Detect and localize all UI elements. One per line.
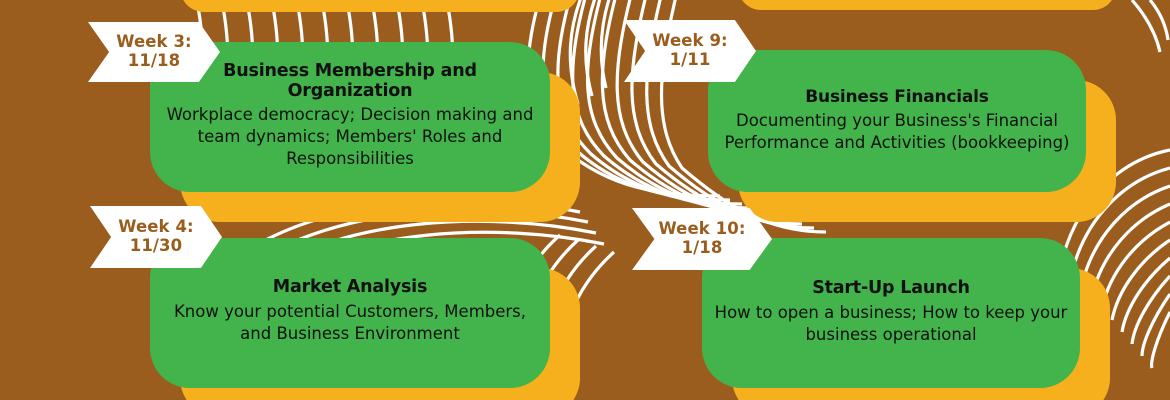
deco-top-right-arcs xyxy=(1132,0,1168,52)
ribbon-date-label: 11/18 xyxy=(128,52,180,71)
ribbon-date-label: 11/30 xyxy=(130,237,182,256)
ribbon-week-label: Week 9: xyxy=(652,32,728,51)
card-description: Workplace democracy; Decision making and… xyxy=(164,104,536,169)
card-description: Documenting your Business's Financial Pe… xyxy=(718,110,1076,154)
card-body[interactable]: Start-Up Launch How to open a business; … xyxy=(702,238,1080,388)
ribbon-week-label: Week 10: xyxy=(658,220,745,239)
top-cutoff-card-left xyxy=(180,0,580,12)
ribbon-week-label: Week 4: xyxy=(118,218,194,237)
card-title: Market Analysis xyxy=(273,277,427,298)
poster-canvas: Business Membership and Organization Wor… xyxy=(0,0,1170,400)
ribbon-date-label: 1/11 xyxy=(670,51,711,70)
card-description: Know your potential Customers, Members, … xyxy=(164,301,536,345)
card-title: Business Financials xyxy=(805,87,988,107)
card-title: Start-Up Launch xyxy=(812,278,970,299)
top-cutoff-card-right xyxy=(738,0,1116,10)
ribbon-date-label: 1/18 xyxy=(682,239,723,258)
card-body[interactable]: Business Financials Documenting your Bus… xyxy=(708,50,1086,192)
ribbon-week-label: Week 3: xyxy=(116,33,192,52)
card-description: How to open a business; How to keep your… xyxy=(712,302,1070,346)
card-title: Business Membership and Organization xyxy=(164,61,536,102)
card-body[interactable]: Market Analysis Know your potential Cust… xyxy=(150,238,550,388)
